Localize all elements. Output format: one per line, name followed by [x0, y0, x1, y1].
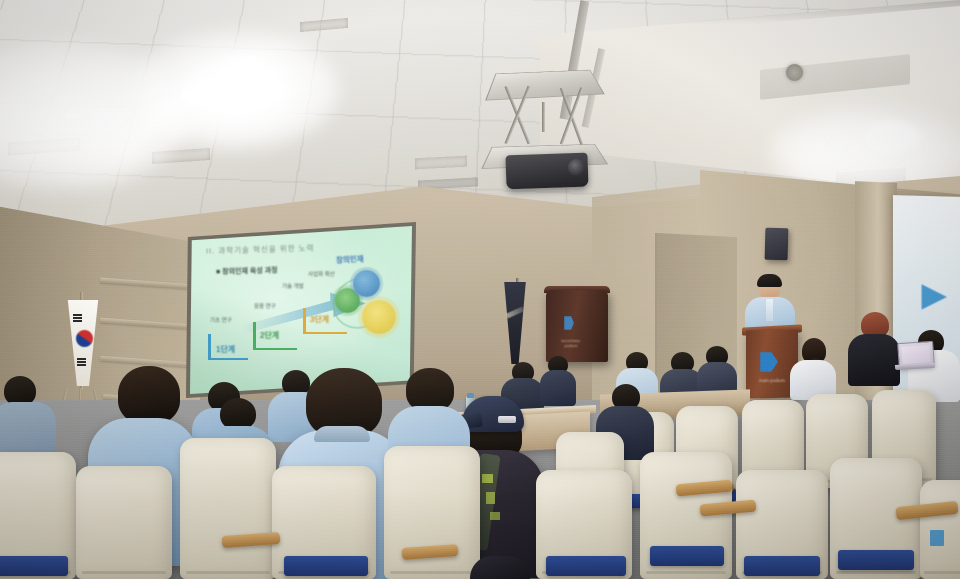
trigram-mark	[77, 364, 86, 366]
main-podium-text: main-podium	[756, 378, 788, 383]
flag-cloth	[500, 282, 530, 364]
attendee-clothing	[540, 370, 576, 406]
taegeuk-circle-icon	[76, 330, 93, 347]
laptop-screen	[901, 345, 930, 364]
presenter-shirt-placket	[766, 299, 773, 321]
cap-label	[498, 416, 516, 423]
seat-base	[650, 546, 724, 566]
auditorium-seat[interactable]	[180, 438, 276, 579]
banner-logo-icon: ▶	[922, 278, 956, 312]
trigram-mark	[73, 317, 82, 319]
attendee-dark-tshirt	[470, 556, 530, 579]
attendee-red-hair	[848, 312, 900, 386]
wall-pillar	[855, 181, 897, 423]
strap-detail	[490, 512, 500, 520]
auditorium-seat[interactable]	[384, 446, 480, 579]
attendee-clothing	[0, 402, 56, 456]
seat-base	[0, 556, 68, 576]
ceiling-light	[205, 52, 275, 94]
presenter-hair	[757, 274, 782, 287]
ceiling-projector	[482, 58, 614, 194]
ceiling-spotlight-icon	[786, 64, 803, 81]
secondary-podium-text: secondary-podium	[556, 338, 586, 348]
wall-speaker	[765, 228, 789, 261]
seat-base	[744, 556, 820, 576]
secondary-podium	[546, 290, 608, 362]
auditorium-seat[interactable]	[76, 466, 172, 579]
trigram-mark	[73, 320, 82, 322]
trigram-mark	[77, 361, 86, 363]
projector-mount-plate	[485, 70, 605, 101]
seat-base	[546, 556, 626, 576]
trigram-mark	[77, 358, 86, 360]
projector-lens-icon	[568, 159, 585, 176]
attendee-white-blouse	[790, 338, 836, 400]
attendee-clothing	[848, 334, 900, 386]
seat-number-tag	[930, 530, 944, 546]
seat-base	[284, 556, 368, 576]
seat-base	[838, 550, 914, 570]
attendee-hair	[118, 366, 180, 424]
strap-detail	[486, 492, 495, 504]
trigram-mark	[73, 314, 82, 316]
seminar-room-photo: ▶ II. 과학기술 혁신을 위한 노력 ■ 창의인재 육성 과정 창의인재 사…	[0, 0, 960, 579]
strap-detail	[482, 474, 493, 483]
attendee-collar	[314, 426, 370, 442]
attendee-dark-tshirt	[540, 356, 576, 406]
projector-lift-arm	[542, 102, 545, 132]
attendee-checked-shirt	[0, 376, 58, 456]
ceiling-light	[862, 120, 922, 154]
attendee-clothing	[470, 556, 530, 579]
